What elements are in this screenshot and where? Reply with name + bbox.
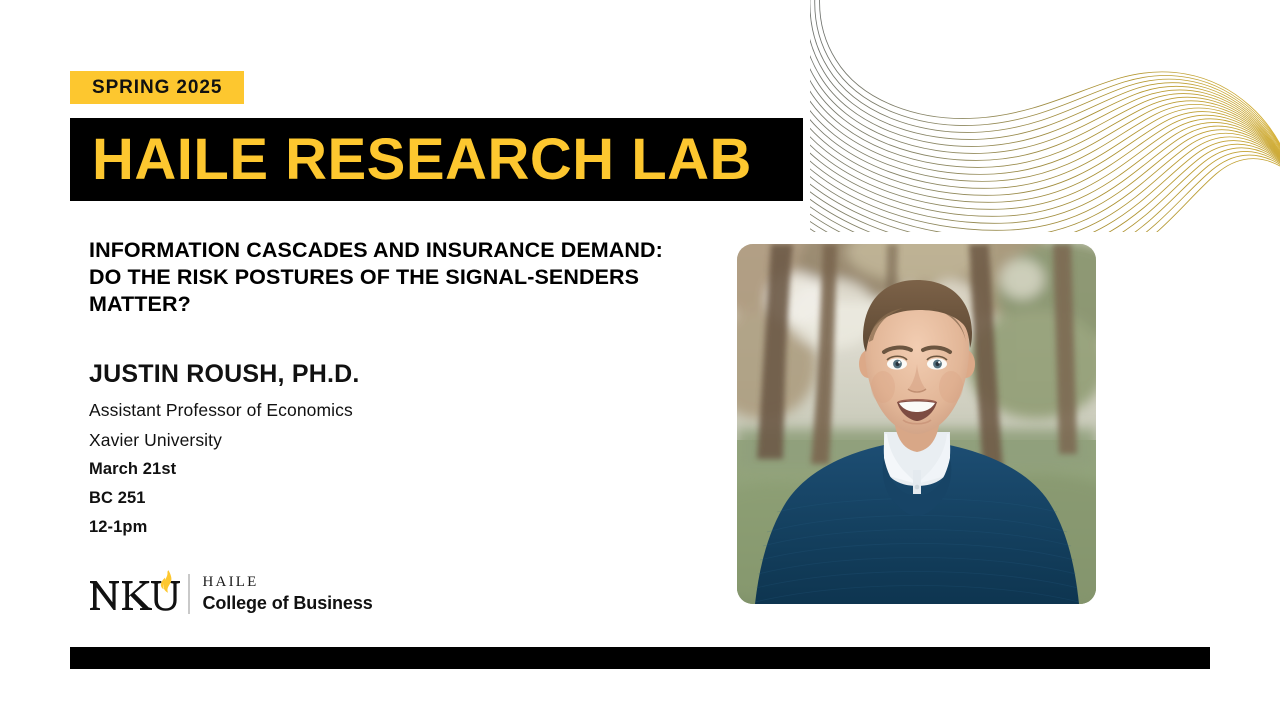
event-time: 12-1pm [89, 513, 649, 542]
event-room: BC 251 [89, 484, 649, 513]
speaker-position: Assistant Professor of Economics [89, 395, 649, 425]
nku-wordmark-icon [88, 569, 180, 619]
speaker-name: JUSTIN ROUSH, PH.D. [89, 358, 649, 390]
college-name: HAILE College of Business [203, 574, 373, 614]
nku-haile-logo: HAILE College of Business [88, 568, 373, 620]
talk-title: INFORMATION CASCADES AND INSURANCE DEMAN… [89, 237, 679, 318]
college-name-line2: College of Business [203, 592, 373, 614]
logo-divider [188, 574, 190, 614]
speaker-affiliation: Xavier University [89, 425, 649, 455]
event-date: March 21st [89, 455, 649, 484]
term-badge: SPRING 2025 [70, 71, 244, 104]
speaker-info-block: JUSTIN ROUSH, PH.D. Assistant Professor … [89, 358, 649, 542]
bottom-accent-bar [70, 647, 1210, 669]
slide-canvas: SPRING 2025 HAILE RESEARCH LAB INFORMATI… [0, 0, 1280, 720]
speaker-portrait [737, 244, 1096, 604]
wavy-contour-lines-decoration [810, 0, 1280, 232]
lab-title-bar: HAILE RESEARCH LAB [70, 118, 803, 201]
lab-title: HAILE RESEARCH LAB [70, 131, 752, 189]
college-name-line1: HAILE [203, 574, 373, 591]
